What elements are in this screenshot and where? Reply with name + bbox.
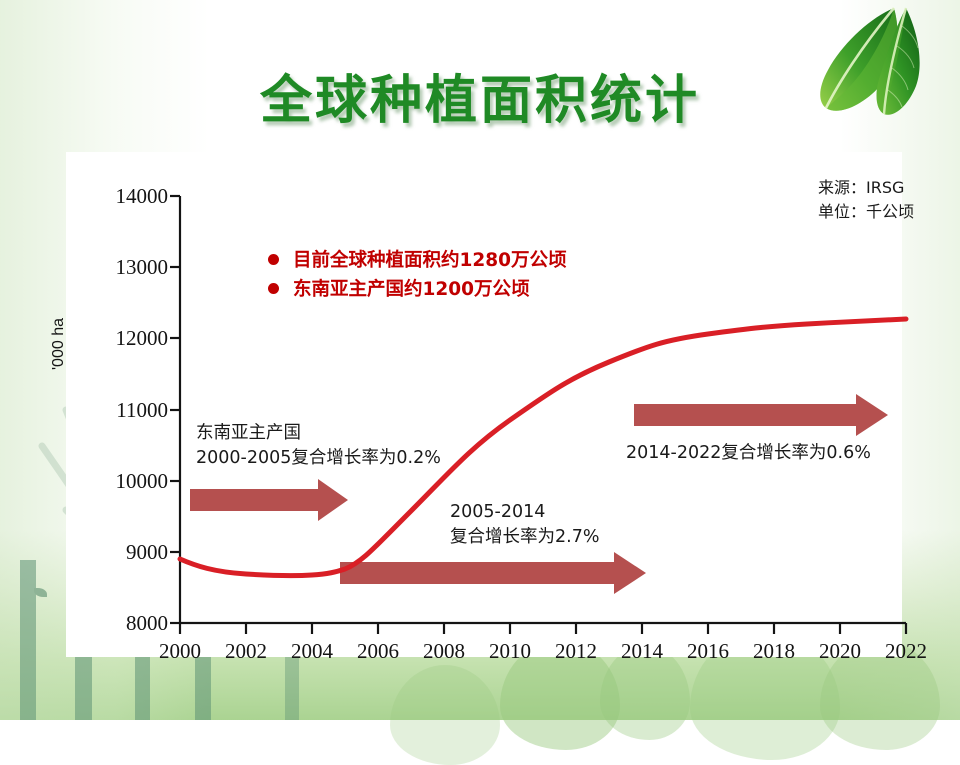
y-tick-label: 12000 <box>88 326 168 351</box>
source-note: 来源：IRSG 单位：千公顷 <box>818 176 914 224</box>
x-tick-label: 2020 <box>805 639 875 664</box>
y-tick-label: 11000 <box>88 398 168 423</box>
bullet-label: 目前全球种植面积约1280万公顷 <box>293 246 567 272</box>
page-title: 全球种植面积统计 <box>0 58 960 133</box>
x-tick-label: 2018 <box>739 639 809 664</box>
annotation-2005-2014: 2005-2014 复合增长率为2.7% <box>450 500 599 551</box>
y-tick-label: 8000 <box>88 611 168 636</box>
growth-arrow-2014-2022 <box>634 394 888 436</box>
growth-arrow-2005-2014 <box>340 552 646 594</box>
y-tick-label: 9000 <box>88 540 168 565</box>
x-axis-ticks <box>180 623 906 634</box>
list-item: 目前全球种植面积约1280万公顷 <box>268 246 567 272</box>
y-tick-label: 10000 <box>88 469 168 494</box>
unit-line: 单位：千公顷 <box>818 200 914 224</box>
annotation-line: 复合增长率为2.7% <box>450 525 599 550</box>
annotation-2000-2005: 东南亚主产国 2000-2005复合增长率为0.2% <box>196 421 441 472</box>
highlight-bullet-list: 目前全球种植面积约1280万公顷 东南亚主产国约1200万公顷 <box>268 246 567 304</box>
y-tick-label: 13000 <box>88 255 168 280</box>
x-tick-label: 2000 <box>145 639 215 664</box>
bullet-dot-icon <box>268 283 279 294</box>
annotation-line: 2005-2014 <box>450 500 599 525</box>
bullet-label: 东南亚主产国约1200万公顷 <box>293 275 530 301</box>
bullet-dot-icon <box>268 254 279 265</box>
annotation-2014-2022: 2014-2022复合增长率为0.6% <box>626 441 871 466</box>
annotation-line: 东南亚主产国 <box>196 421 441 446</box>
growth-arrow-2000-2005 <box>190 479 348 521</box>
x-tick-label: 2012 <box>541 639 611 664</box>
x-tick-label: 2008 <box>409 639 479 664</box>
x-tick-label: 2016 <box>673 639 743 664</box>
x-tick-label: 2004 <box>277 639 347 664</box>
annotation-line: 2000-2005复合增长率为0.2% <box>196 446 441 471</box>
x-tick-label: 2022 <box>871 639 941 664</box>
x-tick-label: 2014 <box>607 639 677 664</box>
y-tick-label: 14000 <box>88 184 168 209</box>
x-tick-label: 2006 <box>343 639 413 664</box>
source-line: 来源：IRSG <box>818 176 914 200</box>
x-tick-label: 2002 <box>211 639 281 664</box>
list-item: 东南亚主产国约1200万公顷 <box>268 275 567 301</box>
y-axis-title: '000 ha <box>50 318 68 370</box>
annotation-line: 2014-2022复合增长率为0.6% <box>626 441 871 466</box>
x-tick-label: 2010 <box>475 639 545 664</box>
